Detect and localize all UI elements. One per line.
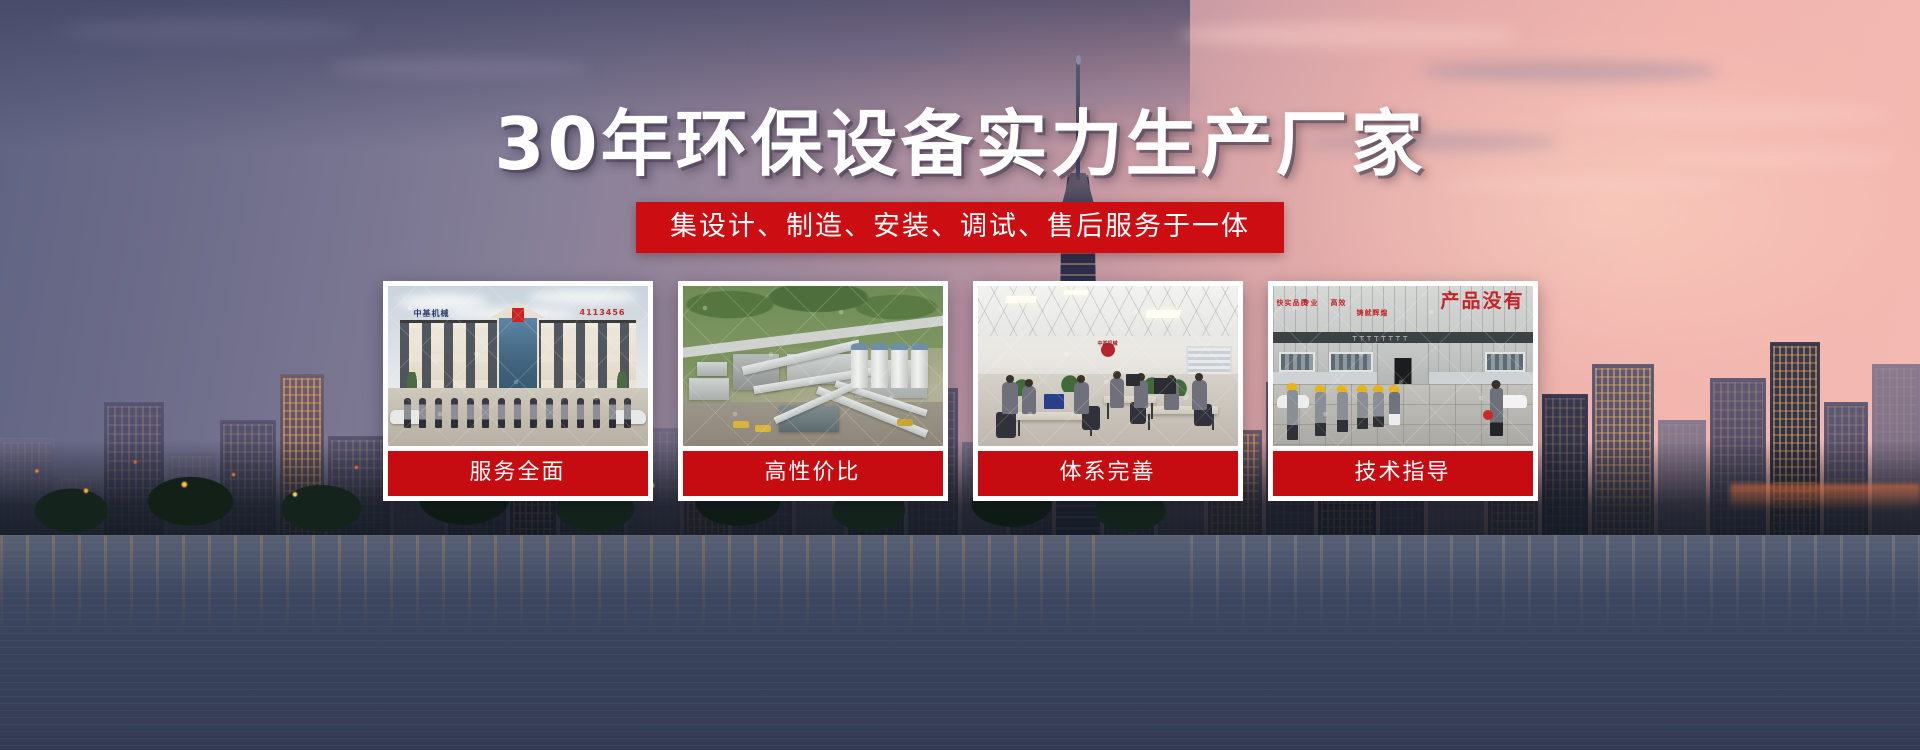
feature-card-system[interactable]: 中基机械: [973, 281, 1243, 501]
factory-wall-slogan-3: 高效: [1331, 298, 1347, 309]
card-caption-service: 服务全面: [388, 451, 648, 496]
card-photo-aerial-plant: [683, 286, 943, 446]
card-photo-office-interior: 中基机械: [978, 286, 1238, 446]
wall-logo-text: 中基机械: [1090, 340, 1126, 347]
card-caption-guidance: 技术指导: [1273, 451, 1533, 496]
banner-subtitle-bar: 集设计、制造、安装、调试、售后服务于一体: [636, 202, 1284, 253]
banner-headline: 30年环保设备实力生产厂家: [494, 108, 1425, 180]
banner-content: 30年环保设备实力生产厂家 集设计、制造、安装、调试、售后服务于一体 中基机械: [0, 0, 1920, 750]
building-phone-text: 4113456: [580, 308, 626, 317]
factory-wall-headline: 产品没有: [1440, 292, 1524, 311]
building-sign-text: 中基机械: [414, 308, 450, 319]
card-caption-value: 高性价比: [683, 451, 943, 496]
feature-card-value[interactable]: 高性价比: [678, 281, 948, 501]
card-caption-system: 体系完善: [978, 451, 1238, 496]
feature-card-service[interactable]: 中基机械 4113456: [383, 281, 653, 501]
feature-card-row: 中基机械 4113456: [383, 281, 1538, 501]
factory-wall-slogan-2: 专业: [1303, 298, 1319, 309]
card-photo-factory-workers: 产品没有 快实品质 专业 高效 铸就辉煌 ┬┬┬┬┬┬┬┬: [1273, 286, 1533, 446]
card-photo-office-building: 中基机械 4113456: [388, 286, 648, 446]
wall-logo: 中基机械: [1090, 340, 1126, 366]
staff-lineup: [404, 398, 632, 428]
hero-banner: 30年环保设备实力生产厂家 集设计、制造、安装、调试、售后服务于一体 中基机械: [0, 0, 1920, 750]
factory-wall-slogan-4: 铸就辉煌: [1357, 308, 1389, 319]
feature-card-guidance[interactable]: 产品没有 快实品质 专业 高效 铸就辉煌 ┬┬┬┬┬┬┬┬: [1268, 281, 1538, 501]
factory-band-marks: ┬┬┬┬┬┬┬┬: [1273, 332, 1533, 343]
